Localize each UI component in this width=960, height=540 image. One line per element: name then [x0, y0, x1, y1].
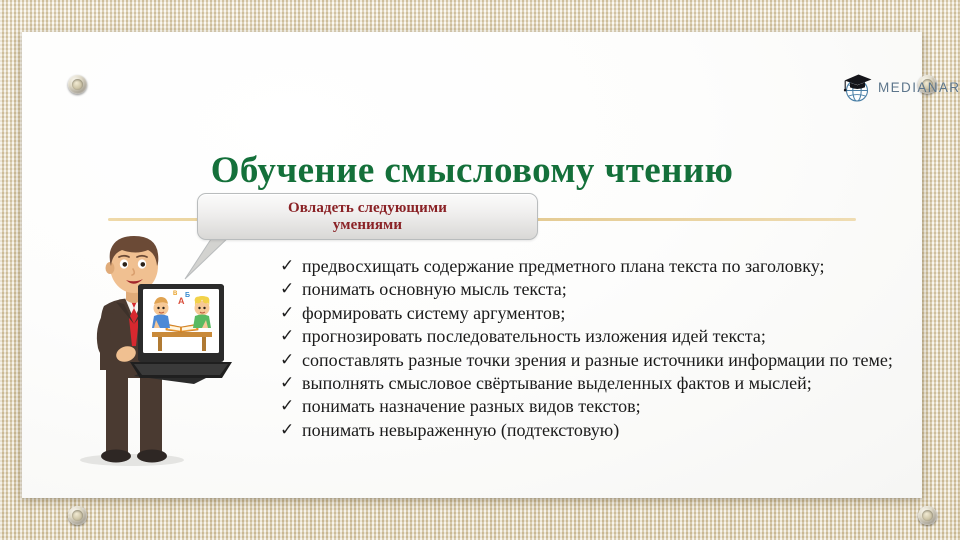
list-item: ✓ предвосхищать содержание предметного п…	[280, 255, 920, 278]
list-item-text: формировать систему аргументов;	[302, 302, 920, 325]
list-item-text: понимать основную мысль текста;	[302, 278, 920, 301]
list-item-text: понимать назначение разных видов текстов…	[302, 395, 920, 418]
list-item-text: понимать невыраженную (подтекстовую)	[302, 419, 920, 442]
list-item: ✓ сопоставлять разные точки зрения и раз…	[280, 349, 920, 372]
checkmark-icon: ✓	[280, 395, 302, 417]
list-item: ✓ выполнять смысловое свёртывание выделе…	[280, 372, 920, 395]
globe-graduation-cap-icon	[840, 71, 874, 103]
list-item: ✓ понимать основную мысль текста;	[280, 278, 920, 301]
list-item: ✓ понимать назначение разных видов текст…	[280, 395, 920, 418]
list-item-text: прогнозировать последовательность изложе…	[302, 325, 920, 348]
checkmark-icon: ✓	[280, 325, 302, 347]
corner-screw-bottom-left	[68, 506, 87, 525]
svg-text:В: В	[173, 291, 178, 297]
list-item: ✓ формировать систему аргументов;	[280, 302, 920, 325]
callout-text: Овладеть следующими умениями	[288, 200, 447, 234]
logo-wordmark: MEDIANARru	[878, 80, 960, 95]
callout-box: Овладеть следующими умениями	[197, 193, 538, 240]
svg-text:Б: Б	[185, 292, 190, 299]
logo-wordmark-text: MEDIANAR	[878, 80, 960, 95]
checkmark-icon: ✓	[280, 278, 302, 300]
skills-bullet-list: ✓ предвосхищать содержание предметного п…	[280, 255, 920, 442]
checkmark-icon: ✓	[280, 349, 302, 371]
checkmark-icon: ✓	[280, 302, 302, 324]
list-item: ✓ прогнозировать последовательность изло…	[280, 325, 920, 348]
medianar-logo: MEDIANARru	[840, 70, 960, 104]
corner-screw-top-left	[68, 75, 87, 94]
checkmark-icon: ✓	[280, 255, 302, 277]
list-item: ✓ понимать невыраженную (подтекстовую)	[280, 419, 920, 442]
callout-line-2: умениями	[333, 217, 402, 233]
corner-screw-bottom-right	[918, 506, 937, 525]
callout-line-1: Овладеть следующими	[288, 200, 447, 216]
list-item-text: выполнять смысловое свёртывание выделенн…	[302, 372, 920, 395]
list-item-text: сопоставлять разные точки зрения и разны…	[302, 349, 920, 372]
list-item-text: предвосхищать содержание предметного пла…	[302, 255, 920, 278]
svg-text:A: A	[178, 296, 185, 306]
checkmark-icon: ✓	[280, 372, 302, 394]
checkmark-icon: ✓	[280, 419, 302, 441]
